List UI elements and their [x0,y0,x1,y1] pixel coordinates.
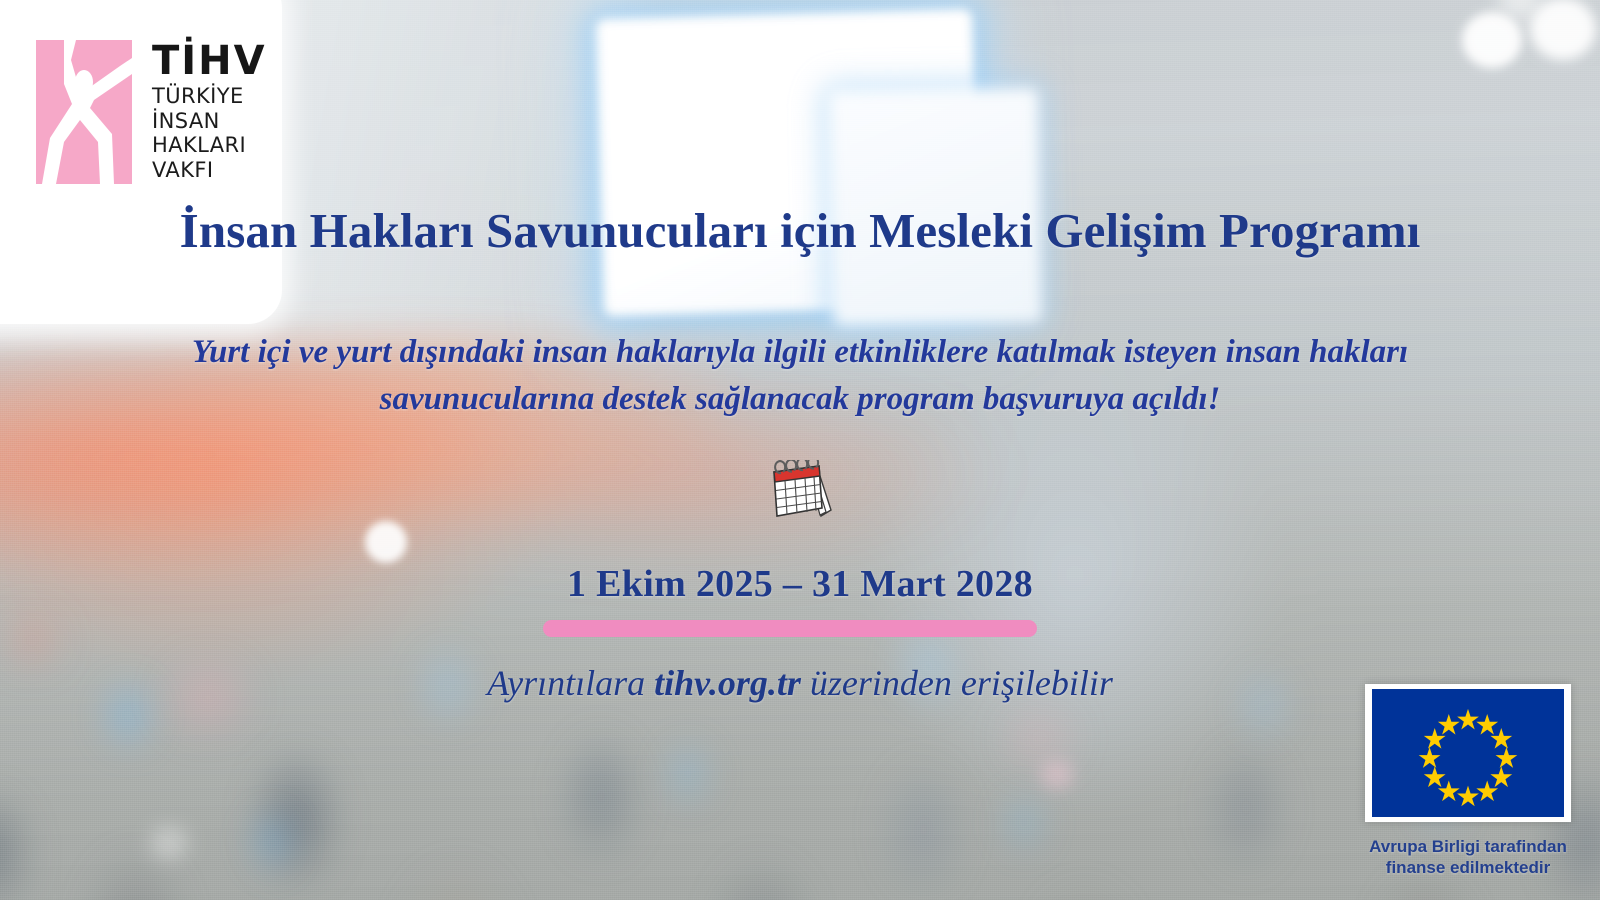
logo-name-lines: TÜRKİYE İNSAN HAKLARI VAKFI [152,84,267,182]
date-range-text: 1 Ekim 2025 – 31 Mart 2028 [0,562,1600,606]
logo-name-line-4: VAKFI [152,158,267,183]
poster-canvas: TİHV TÜRKİYE İNSAN HAKLARI VAKFI İnsan H… [0,0,1600,900]
logo-wordmark: TİHV TÜRKİYE İNSAN HAKLARI VAKFI [152,38,267,182]
eu-caption-line-1: Avrupa Birligi tarafindan [1346,836,1590,857]
human-figure-icon [34,38,134,186]
eu-funding-caption: Avrupa Birligi tarafindan finanse edilme… [1346,836,1590,879]
calendar-icon-wrapper [0,460,1600,522]
calendar-icon [764,460,836,522]
eu-flag-icon [1370,689,1566,817]
eu-funding-badge: Avrupa Birligi tarafindan finanse edilme… [1346,684,1590,879]
page-subtitle: Yurt içi ve yurt dışındaki insan hakları… [0,329,1600,423]
details-prefix: Ayrıntılara [487,663,654,703]
details-suffix: üzerinden erişilebilir [801,663,1113,703]
eu-caption-line-2: finanse edilmektedir [1346,857,1590,878]
pink-underline-rule [543,620,1037,637]
website-link[interactable]: tihv.org.tr [654,663,801,703]
page-title: İnsan Hakları Savunucuları için Mesleki … [0,205,1600,257]
logo-name-line-3: HAKLARI [152,133,267,158]
logo-acronym: TİHV [152,42,267,81]
logo-name-line-1: TÜRKİYE [152,84,267,109]
organization-logo: TİHV TÜRKİYE İNSAN HAKLARI VAKFI [34,38,267,186]
european-union-flag [1365,684,1571,822]
logo-name-line-2: İNSAN [152,109,267,134]
